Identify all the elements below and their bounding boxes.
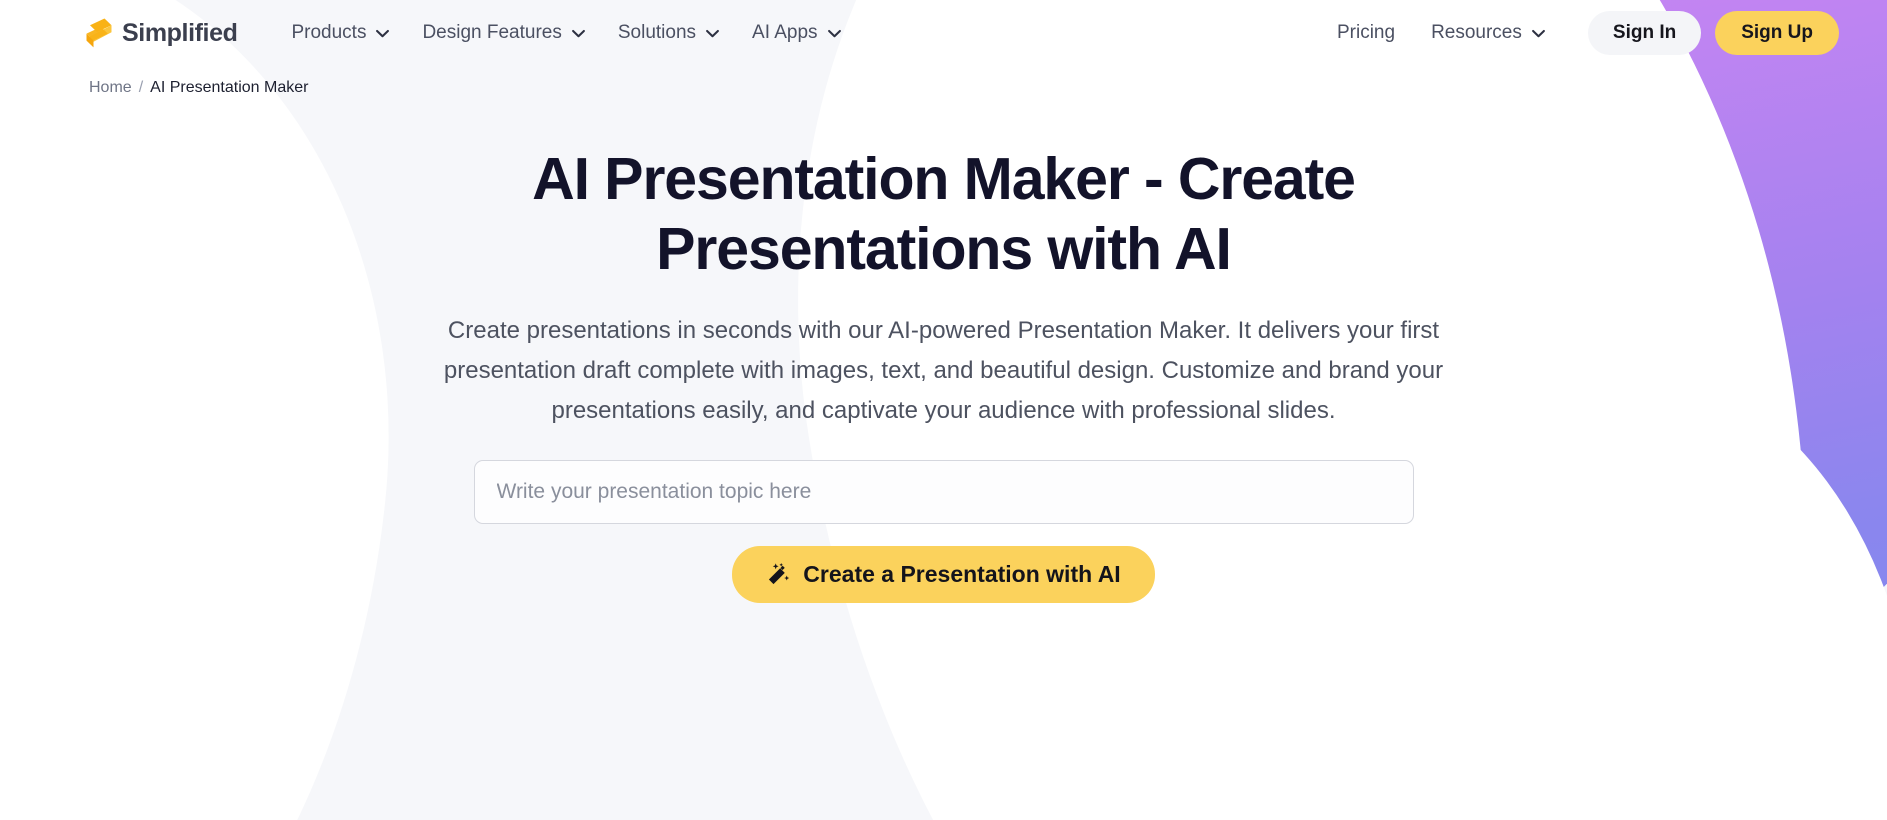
nav-item-solutions[interactable]: Solutions [604,14,734,52]
simplified-bolt-logo-icon [86,18,112,48]
hero-section: AI Presentation Maker - Create Presentat… [0,97,1887,603]
cta-row: Create a Presentation with AI [0,546,1887,603]
nav-item-label: Design Features [422,22,561,44]
breadcrumb-home-link[interactable]: Home [89,79,132,97]
create-presentation-label: Create a Presentation with AI [803,561,1120,588]
site-header: Simplified Products Design Features Solu… [0,0,1887,66]
nav-item-resources[interactable]: Resources [1417,14,1560,52]
brand-name: Simplified [122,19,237,48]
nav-item-label: Solutions [618,22,696,44]
chevron-down-icon [375,29,390,38]
chevron-down-icon [1531,29,1546,38]
presentation-topic-input[interactable] [474,460,1414,524]
chevron-down-icon [571,29,586,38]
page-title: AI Presentation Maker - Create Presentat… [454,145,1434,284]
nav-item-design-features[interactable]: Design Features [408,14,599,52]
nav-item-products[interactable]: Products [277,14,404,52]
create-presentation-button[interactable]: Create a Presentation with AI [732,546,1154,603]
nav-item-label: Products [291,22,366,44]
hero-subtitle: Create presentations in seconds with our… [439,311,1449,430]
sign-in-button[interactable]: Sign In [1588,11,1701,55]
page-root: Simplified Products Design Features Solu… [0,0,1887,820]
breadcrumb-current-page: AI Presentation Maker [150,79,308,97]
breadcrumb-separator: / [139,79,143,97]
nav-item-pricing[interactable]: Pricing [1321,14,1411,52]
nav-item-label: AI Apps [752,22,818,44]
chevron-down-icon [705,29,720,38]
secondary-nav: Pricing Resources Sign In Sign Up [1321,11,1839,55]
topic-input-row [0,460,1887,524]
breadcrumb: Home / AI Presentation Maker [0,66,1887,97]
brand-logo[interactable]: Simplified [86,18,237,48]
primary-nav: Products Design Features Solutions AI Ap… [277,14,855,52]
nav-item-label: Resources [1431,22,1522,44]
magic-wand-icon [766,562,791,587]
nav-item-ai-apps[interactable]: AI Apps [738,14,856,52]
sign-up-button[interactable]: Sign Up [1715,11,1839,55]
chevron-down-icon [827,29,842,38]
